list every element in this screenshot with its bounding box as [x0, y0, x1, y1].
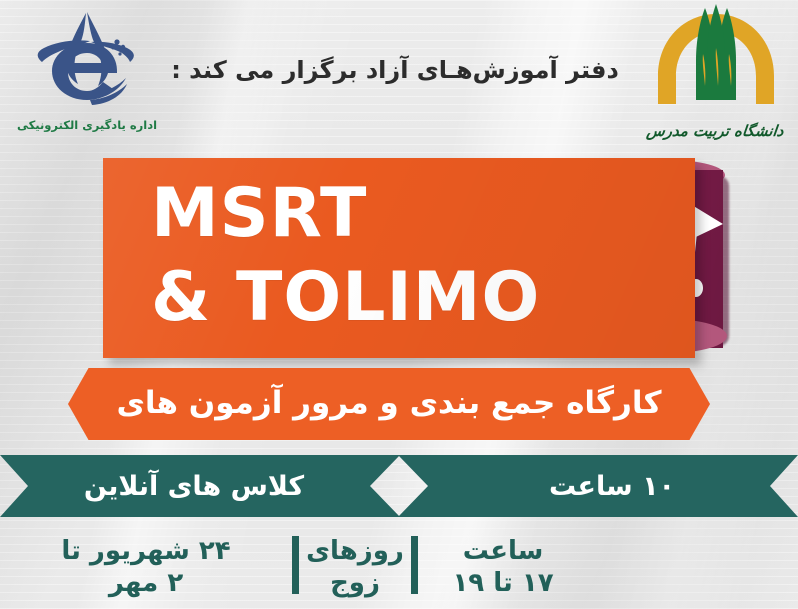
subtitle-text: کارگاه جمع بندی و مرور آزمون های	[68, 368, 710, 440]
detail-date-range-line2: ۲ مهر	[61, 568, 230, 600]
banner-title-msrt: MSRT	[151, 180, 367, 248]
detail-date-range: ۲۴ شهریور تا ۲ مهر	[0, 520, 292, 599]
e-learning-logo-icon	[34, 10, 140, 106]
poster-root: اداره یادگیری الکترونیکی دفتر آموزش‌هـای…	[0, 0, 798, 609]
detail-class-days: روزهای زوج	[299, 520, 411, 599]
detail-divider-1	[292, 536, 299, 594]
university-logo-icon	[652, 4, 780, 108]
poster-header: اداره یادگیری الکترونیکی دفتر آموزش‌هـای…	[0, 0, 798, 152]
chevron-format-label: کلاس های آنلاین	[84, 471, 304, 502]
detail-class-hours-line2: ۱۷ تا ۱۹	[452, 568, 553, 600]
detail-divider-2	[411, 536, 418, 594]
chevron-row: ۱۰ ساعت کلاس های آنلاین	[0, 455, 798, 517]
subtitle-ribbon: کارگاه جمع بندی و مرور آزمون های	[68, 368, 710, 440]
chevron-duration-label: ۱۰ ساعت	[549, 471, 675, 502]
e-learning-logo-caption: اداره یادگیری الکترونیکی	[12, 118, 162, 132]
chevron-duration: ۱۰ ساعت	[398, 455, 798, 517]
detail-class-hours: ساعت ۱۷ تا ۱۹	[418, 520, 588, 599]
main-banner: MSRT & TOLIMO	[103, 158, 695, 358]
detail-class-days-line1: روزهای	[306, 536, 404, 568]
e-learning-logo: اداره یادگیری الکترونیکی	[12, 8, 162, 138]
university-logo: دانشگاه تربیت مدرس	[640, 4, 790, 144]
university-logo-caption: دانشگاه تربیت مدرس	[639, 122, 791, 140]
banner-title-tolimo: & TOLIMO	[151, 264, 540, 332]
chevron-format: کلاس های آنلاین	[0, 455, 400, 517]
detail-date-range-line1: ۲۴ شهریور تا	[61, 536, 230, 568]
details-row: ۲۴ شهریور تا ۲ مهر روزهای زوج ساعت ۱۷ تا…	[0, 520, 798, 609]
detail-class-hours-line1: ساعت	[452, 536, 553, 568]
page-title: دفتر آموزش‌هـای آزاد برگزار می کند :	[170, 56, 620, 84]
detail-class-days-line2: زوج	[306, 568, 404, 600]
